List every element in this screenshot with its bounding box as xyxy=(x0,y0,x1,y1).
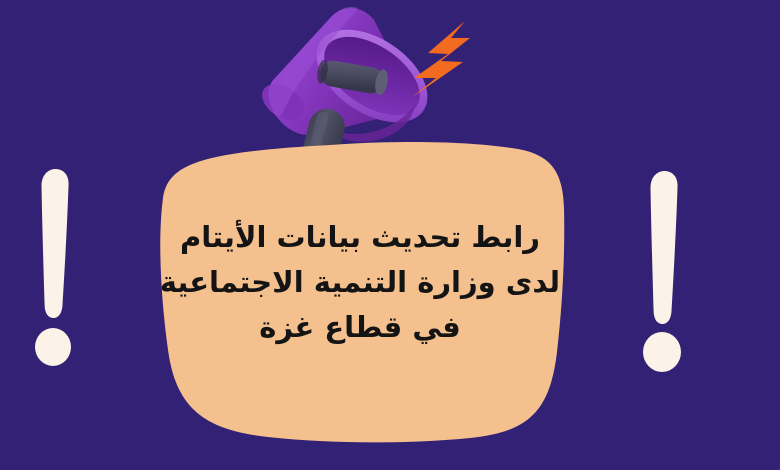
headline-line-1: رابط تحديث بيانات الأيتام xyxy=(160,215,560,260)
headline-line-2: لدى وزارة التنمية الاجتماعية xyxy=(160,260,560,305)
headline-line-3: في قطاع غزة xyxy=(160,305,560,350)
announcement-headline: رابط تحديث بيانات الأيتام لدى وزارة التن… xyxy=(160,215,560,350)
announcement-poster: رابط تحديث بيانات الأيتام لدى وزارة التن… xyxy=(0,0,780,470)
